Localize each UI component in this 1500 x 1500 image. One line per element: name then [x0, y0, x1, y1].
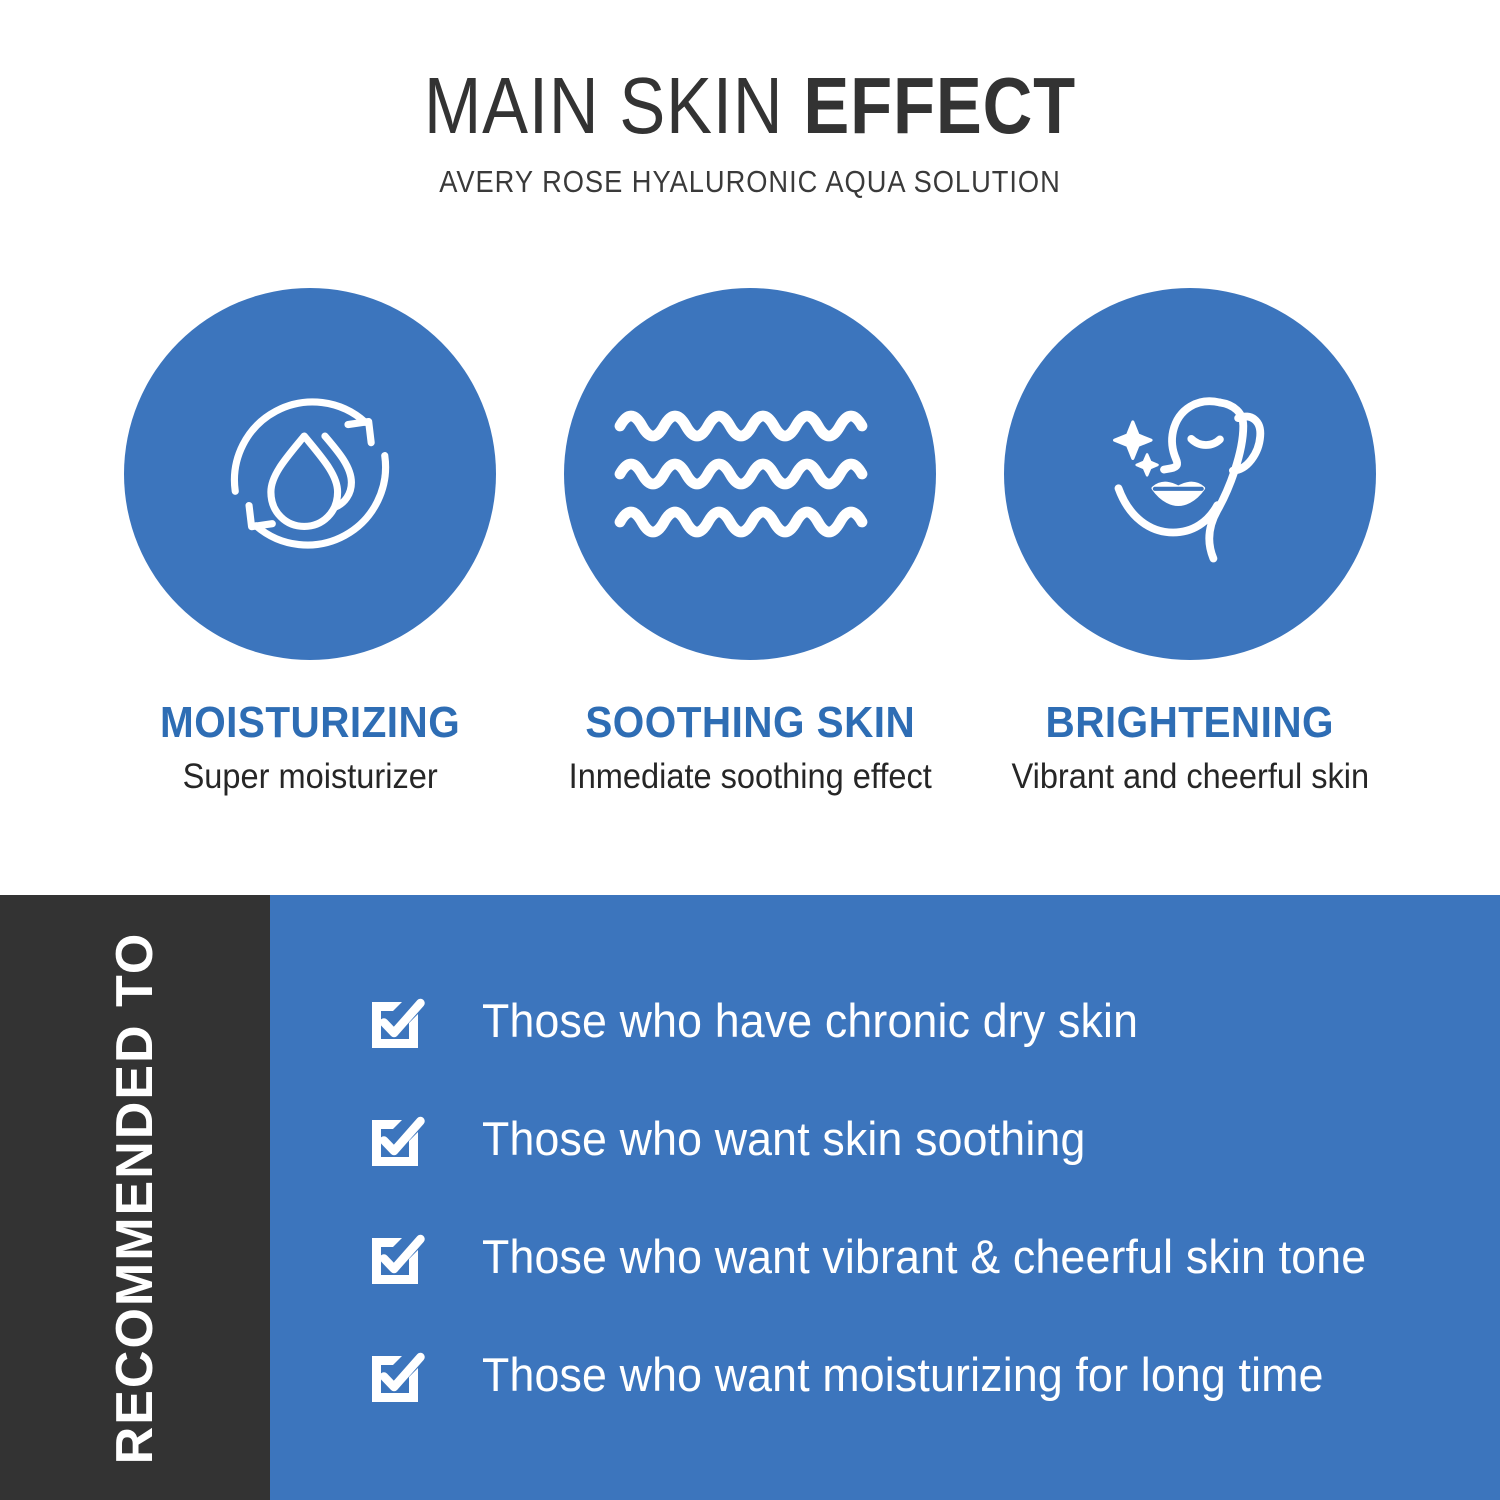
checkbox-checked-icon	[368, 1226, 430, 1288]
water-drop-refresh-icon	[195, 359, 425, 589]
page-subtitle: AVERY ROSE HYALURONIC AQUA SOLUTION	[90, 164, 1410, 200]
page-title-bold: EFFECT	[803, 61, 1076, 150]
feature-description: Super moisturizer	[182, 757, 437, 797]
checkbox-checked-icon	[368, 1108, 430, 1170]
recommended-list: Those who have chronic dry skin Those wh…	[270, 895, 1500, 1500]
feature-brightening: BRIGHTENING Vibrant and cheerful skin	[970, 288, 1410, 797]
feature-label: SOOTHING SKIN	[585, 698, 915, 748]
infographic-page: MAIN SKIN EFFECT AVERY ROSE HYALURONIC A…	[0, 0, 1500, 1500]
list-item: Those who want vibrant & cheerful skin t…	[368, 1198, 1500, 1316]
feature-list: MOISTURIZING Super moisturizer SOOTHING …	[0, 288, 1500, 797]
header: MAIN SKIN EFFECT AVERY ROSE HYALURONIC A…	[0, 0, 1500, 200]
feature-moisturizing: MOISTURIZING Super moisturizer	[90, 288, 530, 797]
recommended-side-panel: RECOMMENDED TO	[0, 895, 270, 1500]
page-title: MAIN SKIN EFFECT	[105, 62, 1395, 150]
list-item-text: Those who want vibrant & cheerful skin t…	[482, 1230, 1366, 1284]
list-item-text: Those who have chronic dry skin	[482, 994, 1138, 1048]
list-item: Those who want moisturizing for long tim…	[368, 1316, 1500, 1434]
checkbox-checked-icon	[368, 1344, 430, 1406]
feature-icon-circle	[1004, 288, 1376, 660]
feature-label: MOISTURIZING	[160, 698, 460, 748]
list-item: Those who have chronic dry skin	[368, 962, 1500, 1080]
feature-icon-circle	[124, 288, 496, 660]
list-item: Those who want skin soothing	[368, 1080, 1500, 1198]
feature-description: Inmediate soothing effect	[568, 757, 931, 797]
feature-label: BRIGHTENING	[1046, 698, 1334, 748]
feature-icon-circle	[564, 288, 936, 660]
feature-soothing: SOOTHING SKIN Inmediate soothing effect	[530, 288, 970, 797]
list-item-text: Those who want skin soothing	[482, 1112, 1085, 1166]
checkbox-checked-icon	[368, 990, 430, 1052]
feature-description: Vibrant and cheerful skin	[1011, 757, 1369, 797]
recommended-section: RECOMMENDED TO Those who have chronic dr…	[0, 895, 1500, 1500]
list-item-text: Those who want moisturizing for long tim…	[482, 1348, 1324, 1402]
page-title-light: MAIN SKIN	[424, 61, 803, 150]
face-sparkle-icon	[1060, 344, 1320, 604]
recommended-side-label: RECOMMENDED TO	[107, 931, 163, 1464]
wavy-lines-icon	[610, 394, 890, 554]
